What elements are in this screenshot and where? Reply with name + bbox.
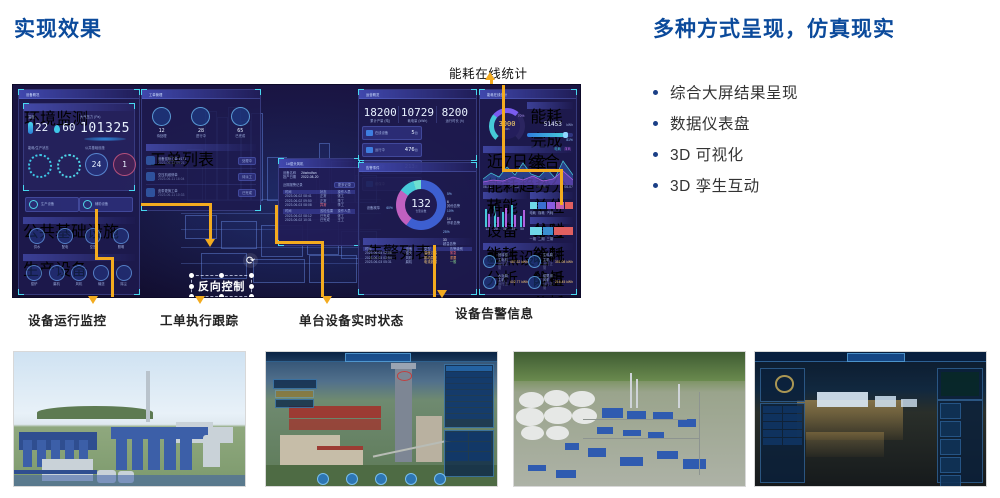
- bullet-dot-icon: [653, 152, 658, 157]
- list-item: 3D 孪生互动: [653, 171, 983, 199]
- donut-center-label: 告警总数: [416, 210, 427, 214]
- device-energy-icon: [528, 276, 541, 289]
- device-energy-icon: [483, 255, 496, 268]
- device-chip-label: 生产设备: [41, 202, 54, 206]
- resize-handle-tc[interactable]: [219, 273, 224, 278]
- order-icon: [146, 172, 155, 181]
- order-icon: [146, 156, 155, 165]
- device-energy-item[interactable]: 水泥磨主机 运行正常 402.77 kWh: [483, 274, 528, 291]
- stat-big-value: 10729: [399, 106, 435, 119]
- device-energy-icon: [483, 276, 496, 289]
- night-title-bar: [847, 353, 904, 362]
- device-tile[interactable]: 配电: [57, 228, 73, 249]
- selected-label-group[interactable]: 反向控制: [191, 275, 252, 297]
- device-tile-icon: [49, 265, 65, 281]
- device-tile-icon: [113, 228, 129, 244]
- device-tile-icon: [71, 265, 87, 281]
- feature-list: 综合大屏结果呈现 数据仪表盘 3D 可视化 3D 孪生互动: [653, 78, 983, 202]
- device-chip-label: 辅助设备: [95, 202, 108, 206]
- night-panel-list[interactable]: [760, 403, 806, 483]
- order-time: 2023-06-12 09:21: [158, 161, 238, 165]
- bullet-dot-icon: [653, 183, 658, 188]
- stat-icon: [366, 147, 373, 153]
- gauge-alarm-total: 1: [113, 153, 136, 176]
- metric-value-temp: 22: [35, 121, 48, 134]
- gallery-item-plant-3d-overview[interactable]: [13, 351, 246, 487]
- selected-label-text: 反向控制: [198, 281, 245, 293]
- device-energy-name: 水泥磨主机: [498, 274, 510, 283]
- table-row: 2023-06-03 05:31 磨机 电流超限 一般: [363, 260, 472, 264]
- gauge-device-total-value: 24: [92, 160, 102, 169]
- twin-bottom-nav[interactable]: [317, 473, 446, 483]
- slice-percent: 10%: [447, 209, 454, 213]
- device-energy-name: 窑尾排风机: [543, 274, 555, 283]
- list-item-label: 3D 孪生互动: [670, 174, 760, 196]
- device-tile[interactable]: 输送: [93, 265, 109, 286]
- device-icon: [29, 200, 38, 209]
- list-item-label: 3D 可视化: [670, 143, 744, 165]
- detail-section-title: 近期报警记录: [283, 183, 303, 187]
- panel-header: 工单管理: [142, 90, 260, 99]
- device-energy-value: 216.45 kWh: [555, 280, 573, 284]
- kpi-label: 进行中: [191, 134, 210, 138]
- stat-small: 运行中 476 台: [362, 143, 422, 157]
- twin-metric-panel[interactable]: [444, 430, 495, 478]
- device-tile[interactable]: 磨机: [49, 265, 65, 286]
- twin-chip[interactable]: [275, 390, 314, 399]
- device-tile[interactable]: 窑炉: [26, 265, 42, 286]
- metric-group-label-infra: 公共基础设施: [85, 146, 136, 150]
- inimage-arrow-energy-v1: [502, 85, 505, 171]
- gallery-item-digital-twin-interactive[interactable]: [265, 351, 498, 487]
- inimage-arrow-energy-h: [502, 169, 562, 172]
- inimage-arrow-alarm-v: [433, 245, 436, 297]
- kpi-icon: [152, 107, 171, 126]
- inimage-arrow-status-v2: [321, 241, 324, 297]
- device-tile-icon: [93, 265, 109, 281]
- ring-gauge-2: [57, 154, 81, 178]
- annotation-label-order: 工单执行跟踪: [160, 310, 239, 329]
- table-row: 2023-06-02 10:31 已完成 王工: [283, 218, 355, 222]
- order-icon: [146, 188, 155, 197]
- stat-big-label: 累计产量 (吨): [362, 119, 398, 123]
- slice-label: 设备故障: [367, 206, 380, 210]
- panel-header: 能耗在线统计: [480, 90, 576, 99]
- annotation-arrowhead-alarm: [437, 290, 447, 298]
- alarm-donut-chart: 132 告警总数: [396, 180, 446, 230]
- thermometer-icon: [28, 122, 33, 134]
- device-energy-name: 生料磨主机: [543, 253, 555, 262]
- device-tile[interactable]: 风机: [71, 265, 87, 286]
- device-energy-icon: [528, 255, 541, 268]
- kpi-item: 12 待处理: [152, 107, 171, 138]
- metric-group-label-env: 温度: [28, 115, 76, 119]
- annotation-label-alarm: 设备告警信息: [455, 303, 534, 322]
- stat-big-label: 运行时长 (h): [437, 119, 473, 123]
- gallery-item-refinery-aerial-3d[interactable]: [513, 351, 746, 487]
- panel-device-detail-popup[interactable]: 1#窑头风机 设备名称 2#windfan 投产日期 2022-08-20 近期…: [278, 158, 360, 246]
- window-light: [817, 392, 868, 407]
- metric-label-pressure: 大气压力 (Pa): [80, 115, 130, 119]
- inimage-arrow-order-v: [209, 203, 212, 243]
- panel-title: 告警事件: [359, 163, 476, 170]
- page-title-right: 多种方式呈现，仿真现实: [653, 13, 895, 43]
- panel-title: 设备概况: [19, 90, 139, 97]
- inimage-arrow-order-h: [141, 203, 211, 206]
- table-row: 2023-06-03 08:08 异常 李工: [283, 203, 355, 207]
- stat-small-label: 运行中: [375, 148, 405, 152]
- ring-gauge-1: [28, 154, 52, 178]
- kpi-icon: [231, 107, 250, 126]
- kpi-item: 28 进行中: [191, 107, 210, 138]
- axis-tick: 1#: [485, 227, 489, 231]
- stat-small: 在线设备 5 台: [362, 126, 422, 140]
- inimage-arrowhead-order: [205, 239, 215, 247]
- metric-value-humidity: 60: [62, 121, 75, 134]
- device-tile-icon: [57, 228, 73, 244]
- device-energy-item[interactable]: 回转窑主电机 运行正常 487.32 kWh: [483, 253, 528, 270]
- resize-handle-ml[interactable]: [189, 284, 194, 289]
- energy-gauge-unit: kWh: [504, 128, 509, 131]
- device-chip[interactable]: 生产设备: [25, 197, 79, 212]
- device-tile[interactable]: 除尘: [116, 265, 132, 286]
- stat-small-label: 在线设备: [375, 131, 411, 135]
- panel-title: 运营概览: [359, 90, 476, 97]
- panel-header: 运营概览: [359, 90, 476, 99]
- list-item: 3D 可视化: [653, 140, 983, 168]
- resize-handle-mr[interactable]: [249, 284, 254, 289]
- refresh-icon[interactable]: ⟳: [243, 253, 258, 268]
- device-tile-icon: [29, 228, 45, 244]
- slice-percent: 25%: [443, 230, 450, 234]
- panel-header: 告警事件: [359, 163, 476, 172]
- resize-handle-tl[interactable]: [189, 273, 194, 278]
- stat-big-value: 8200: [437, 106, 473, 119]
- kpi-item: 65 已完成: [231, 107, 250, 138]
- twin-side-panel[interactable]: [444, 364, 495, 428]
- energy-progress: 能耗完成率 51453 kWh 81%: [524, 102, 573, 142]
- twin-chip[interactable]: [275, 399, 314, 408]
- panel-title: 工单管理: [142, 90, 260, 97]
- page-title-left: 实现效果: [14, 13, 102, 43]
- list-item[interactable]: 皮带更换工单 2023-06-11 10:33 已完成: [146, 185, 256, 200]
- device-icon: [83, 200, 92, 209]
- bullet-dot-icon: [653, 121, 658, 126]
- device-energy-item[interactable]: 窑尾排风机 运行正常 216.45 kWh: [528, 274, 573, 291]
- list-item-label: 综合大屏结果呈现: [670, 81, 798, 103]
- panel-operation-stats[interactable]: 运营概览 18200 累计产量 (吨) 10729 耗电量 (kWh) 8200…: [358, 89, 477, 161]
- device-tile-icon: [116, 265, 132, 281]
- kpi-icon: [191, 107, 210, 126]
- inimage-arrow-status-h: [275, 241, 323, 244]
- order-status: 已完成: [238, 189, 256, 197]
- device-tile[interactable]: 空压: [85, 228, 101, 249]
- stat-big: 18200 累计产量 (吨): [362, 106, 399, 123]
- annotation-arrowhead-status: [322, 296, 332, 304]
- resize-handle-bl[interactable]: [189, 294, 194, 297]
- stat-small-value: 476: [405, 147, 415, 153]
- list-item: 数据仪表盘: [653, 109, 983, 137]
- list-item-label: 数据仪表盘: [670, 112, 750, 134]
- detail-field-value: 2022-08-20: [301, 175, 318, 179]
- night-panel-gauge[interactable]: [760, 368, 806, 402]
- resize-handle-bc[interactable]: [219, 294, 224, 297]
- gauge-device-total: 24: [85, 153, 108, 176]
- annotation-label-monitor: 设备运行监控: [28, 310, 107, 329]
- night-panel-cameras[interactable]: [937, 400, 983, 482]
- stat-big: 8200 运行时长 (h): [437, 106, 473, 123]
- scene-hill: [37, 406, 153, 419]
- slide-root: 实现效果 多种方式呈现，仿真现实 综合大屏结果呈现 数据仪表盘 3D 可视化 3…: [0, 0, 1000, 498]
- inimage-arrow-monitor-v2: [111, 257, 114, 297]
- slice-percent: 60%: [386, 206, 393, 210]
- panel-header: 1#窑头风机: [279, 159, 359, 168]
- window-light: [875, 396, 896, 407]
- kpi-label: 待处理: [152, 134, 171, 138]
- order-time: 2023-06-11 10:33: [158, 193, 238, 197]
- device-energy-item[interactable]: 生料磨主机 运行正常 351.08 kWh: [528, 253, 573, 270]
- gauge-alarm-total-value: 1: [122, 160, 127, 169]
- dashboard-screenshot[interactable]: 设备概况 环境监测 温度 22 60: [13, 85, 580, 297]
- panel-title: 1#窑头风机: [279, 159, 359, 166]
- panel-title: 能耗在线统计: [480, 90, 576, 97]
- axis-tick: 5#: [520, 227, 524, 231]
- metric-value-pressure: 101325: [80, 121, 130, 136]
- stat-big-label: 耗电量 (kWh): [399, 119, 435, 123]
- annotation-arrowhead-energy: [485, 72, 495, 80]
- annotation-label-status: 单台设备实时状态: [299, 310, 404, 329]
- detail-field-label: 投产日期: [283, 175, 296, 179]
- device-energy-name: 回转窑主电机: [498, 253, 510, 262]
- energy-gauge-percent: 70%: [518, 114, 525, 118]
- list-item[interactable]: 空压机维修单 2023-06-11 16:04 待派工: [146, 169, 256, 185]
- stat-big-value: 18200: [362, 106, 398, 119]
- order-time: 2023-06-11 16:04: [158, 177, 238, 181]
- order-status: 处理中: [238, 157, 256, 165]
- annotation-arrowhead-monitor: [88, 296, 98, 304]
- slice-label: 超温告警: [443, 242, 456, 246]
- device-tile[interactable]: 供水: [29, 228, 45, 249]
- selection-box[interactable]: 反向控制: [191, 275, 252, 297]
- legend-item: 电耗: [554, 147, 561, 151]
- axis-tick: 3#: [503, 227, 507, 231]
- axis-tick: 2#: [494, 227, 498, 231]
- inimage-arrow-status-v1: [275, 205, 278, 243]
- window-light: [901, 399, 917, 407]
- kpi-label: 已完成: [231, 134, 250, 138]
- chimney-stack: [146, 371, 150, 422]
- list-item: 综合大屏结果呈现: [653, 78, 983, 106]
- more-records-button[interactable]: 更多记录: [334, 182, 355, 188]
- panel-device-overview[interactable]: 设备概况 环境监测 温度 22 60: [18, 89, 140, 295]
- resize-handle-br[interactable]: [249, 294, 254, 297]
- panel-work-order[interactable]: 工单管理 12 待处理 28 进行中 65 已完成: [141, 89, 261, 211]
- device-tile-icon: [85, 228, 101, 244]
- detail-field: 投产日期 2022-08-20: [283, 175, 355, 179]
- bullet-dot-icon: [653, 90, 658, 95]
- inimage-arrow-monitor-v1: [95, 209, 98, 259]
- twin-title-bar: [345, 353, 412, 362]
- order-status: 待派工: [238, 173, 256, 181]
- energy-heat-strip-2: [530, 227, 574, 235]
- metric-group-label-status: 能耗/生产状态: [28, 146, 81, 150]
- panel-header: 设备概况: [19, 90, 139, 99]
- device-chip[interactable]: 辅助设备: [79, 197, 133, 212]
- device-tile[interactable]: 照明: [113, 228, 129, 249]
- slice-percent: 5%: [447, 192, 452, 196]
- stat-icon: [366, 130, 373, 136]
- droplet-icon: [54, 125, 60, 133]
- gallery-strip: [13, 351, 987, 487]
- donut-center-value: 132: [411, 197, 431, 210]
- gallery-item-night-scene-monitor[interactable]: [754, 351, 987, 487]
- device-energy-value: 402.77 kWh: [510, 280, 528, 284]
- twin-chip[interactable]: [273, 379, 317, 389]
- inimage-arrow-energy-v2: [560, 169, 563, 205]
- axis-tick: 4#: [512, 227, 516, 231]
- stat-big: 10729 耗电量 (kWh): [399, 106, 436, 123]
- night-panel-map[interactable]: [937, 368, 983, 399]
- progress-value: 51453: [544, 121, 562, 128]
- device-energy-value: 487.32 kWh: [510, 260, 528, 264]
- device-tile-icon: [26, 265, 42, 281]
- device-energy-value: 351.08 kWh: [555, 260, 573, 264]
- panel-alarm-events[interactable]: 告警事件 132 告警总数 设备故障 60% 5% 6: [358, 162, 477, 295]
- annotation-arrowhead-order: [195, 296, 205, 304]
- legend-item: 煤耗: [564, 147, 571, 151]
- pressure-indicator: [84, 137, 126, 141]
